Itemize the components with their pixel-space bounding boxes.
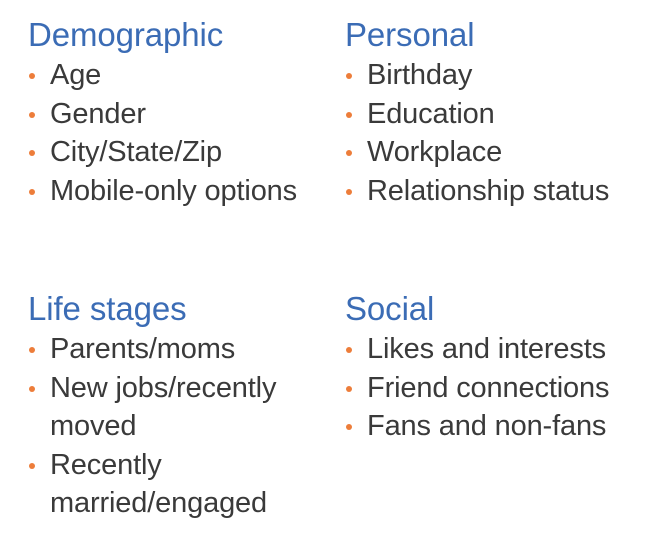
bullet-dot-icon [346, 424, 352, 430]
list-item-label: Mobile-only options [50, 172, 338, 211]
bullet-dot-icon [29, 386, 35, 392]
list-item-label: Friend connections [367, 369, 657, 408]
list-item: Parents/moms [28, 330, 328, 369]
list-item-label: Relationship status [367, 172, 657, 211]
category-block-demographic: Demographic Age Gender City/State/Zip Mo… [28, 16, 338, 210]
bullet-dot-icon [346, 189, 352, 195]
list-item: Recently married/engaged [28, 446, 328, 523]
list-item-label: New jobs/recently moved [50, 369, 328, 446]
slide-canvas: Demographic Age Gender City/State/Zip Mo… [0, 0, 664, 554]
list-item: Likes and interests [345, 330, 657, 369]
list-item: Mobile-only options [28, 172, 338, 211]
list-item: Fans and non-fans [345, 407, 657, 446]
list-item: Education [345, 95, 657, 134]
bullet-dot-icon [346, 150, 352, 156]
bullet-dot-icon [29, 347, 35, 353]
bullet-list-life-stages: Parents/moms New jobs/recently moved Rec… [28, 330, 328, 523]
list-item-label: Recently married/engaged [50, 446, 328, 523]
bullet-dot-icon [346, 73, 352, 79]
list-item: New jobs/recently moved [28, 369, 328, 446]
list-item-label: Birthday [367, 56, 657, 95]
category-block-personal: Personal Birthday Education Workplace Re… [345, 16, 657, 210]
list-item-label: Likes and interests [367, 330, 657, 369]
bullet-dot-icon [29, 189, 35, 195]
bullet-list-social: Likes and interests Friend connections F… [345, 330, 657, 446]
list-item: Birthday [345, 56, 657, 95]
list-item: Friend connections [345, 369, 657, 408]
list-item-label: Fans and non-fans [367, 407, 657, 446]
list-item-label: Gender [50, 95, 338, 134]
list-item-label: City/State/Zip [50, 133, 338, 172]
list-item-label: Education [367, 95, 657, 134]
bullet-dot-icon [29, 463, 35, 469]
bullet-list-personal: Birthday Education Workplace Relationshi… [345, 56, 657, 210]
category-heading-demographic: Demographic [28, 16, 338, 54]
list-item: Gender [28, 95, 338, 134]
bullet-dot-icon [29, 112, 35, 118]
category-block-life-stages: Life stages Parents/moms New jobs/recent… [28, 290, 328, 523]
bullet-list-demographic: Age Gender City/State/Zip Mobile-only op… [28, 56, 338, 210]
list-item-label: Workplace [367, 133, 657, 172]
bullet-dot-icon [346, 347, 352, 353]
category-heading-life-stages: Life stages [28, 290, 328, 328]
list-item: City/State/Zip [28, 133, 338, 172]
list-item: Workplace [345, 133, 657, 172]
list-item: Age [28, 56, 338, 95]
bullet-dot-icon [346, 112, 352, 118]
category-heading-social: Social [345, 290, 657, 328]
list-item-label: Parents/moms [50, 330, 328, 369]
list-item-label: Age [50, 56, 338, 95]
category-heading-personal: Personal [345, 16, 657, 54]
bullet-dot-icon [29, 150, 35, 156]
list-item: Relationship status [345, 172, 657, 211]
category-block-social: Social Likes and interests Friend connec… [345, 290, 657, 446]
bullet-dot-icon [29, 73, 35, 79]
bullet-dot-icon [346, 386, 352, 392]
